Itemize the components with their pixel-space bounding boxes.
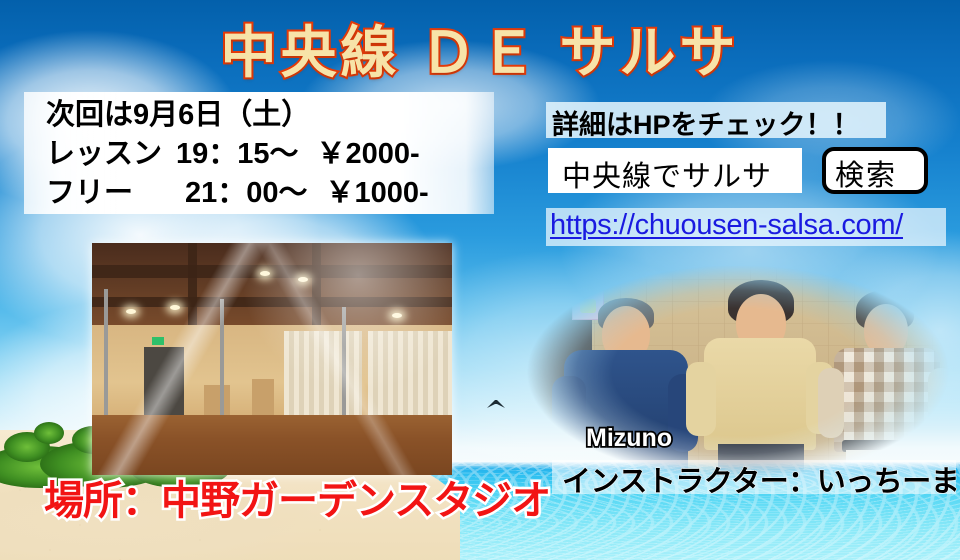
poster-title: 中央線 ＤＥ サルサ bbox=[0, 8, 960, 89]
poster-canvas: 中央線 ＤＥ サルサ 次回は9月6日（土） レッスン19：15〜￥2000- フ… bbox=[0, 0, 960, 560]
venue-label: 場所：中野ガーデンスタジオ bbox=[44, 468, 550, 526]
mizuno-name-tag: Mizuno bbox=[586, 424, 672, 453]
lesson-line: レッスン19：15〜￥2000- bbox=[46, 135, 506, 174]
schedule-text: 次回は9月6日（土） レッスン19：15〜￥2000- フリー21：00〜￥10… bbox=[46, 96, 506, 213]
studio-photo-glare bbox=[92, 243, 452, 475]
instructors-photo bbox=[516, 266, 960, 478]
website-url-link[interactable]: https://chuousen-salsa.com/ bbox=[550, 209, 903, 242]
free-price: ￥1000- bbox=[326, 177, 429, 209]
lesson-label: レッスン bbox=[46, 135, 162, 174]
search-input-value: 中央線でサルサ bbox=[562, 153, 772, 195]
studio-photo bbox=[92, 243, 452, 475]
free-time: 21：00〜 bbox=[185, 177, 308, 209]
search-button[interactable]: 検索 bbox=[822, 147, 928, 194]
lesson-price: ￥2000- bbox=[317, 138, 420, 170]
hp-headline: 詳細はHPをチェック！！ bbox=[552, 103, 860, 142]
next-date-line: 次回は9月6日（土） bbox=[46, 96, 506, 135]
free-label: フリー bbox=[46, 174, 133, 213]
instructor-caption: インストラクター：いっちーまなみ bbox=[562, 458, 960, 500]
lesson-time: 19：15〜 bbox=[176, 138, 299, 170]
bird-silhouette-icon bbox=[486, 398, 506, 410]
search-input[interactable]: 中央線でサルサ bbox=[548, 148, 802, 193]
free-line: フリー21：00〜￥1000- bbox=[46, 174, 506, 213]
search-button-label: 検索 bbox=[835, 152, 897, 194]
